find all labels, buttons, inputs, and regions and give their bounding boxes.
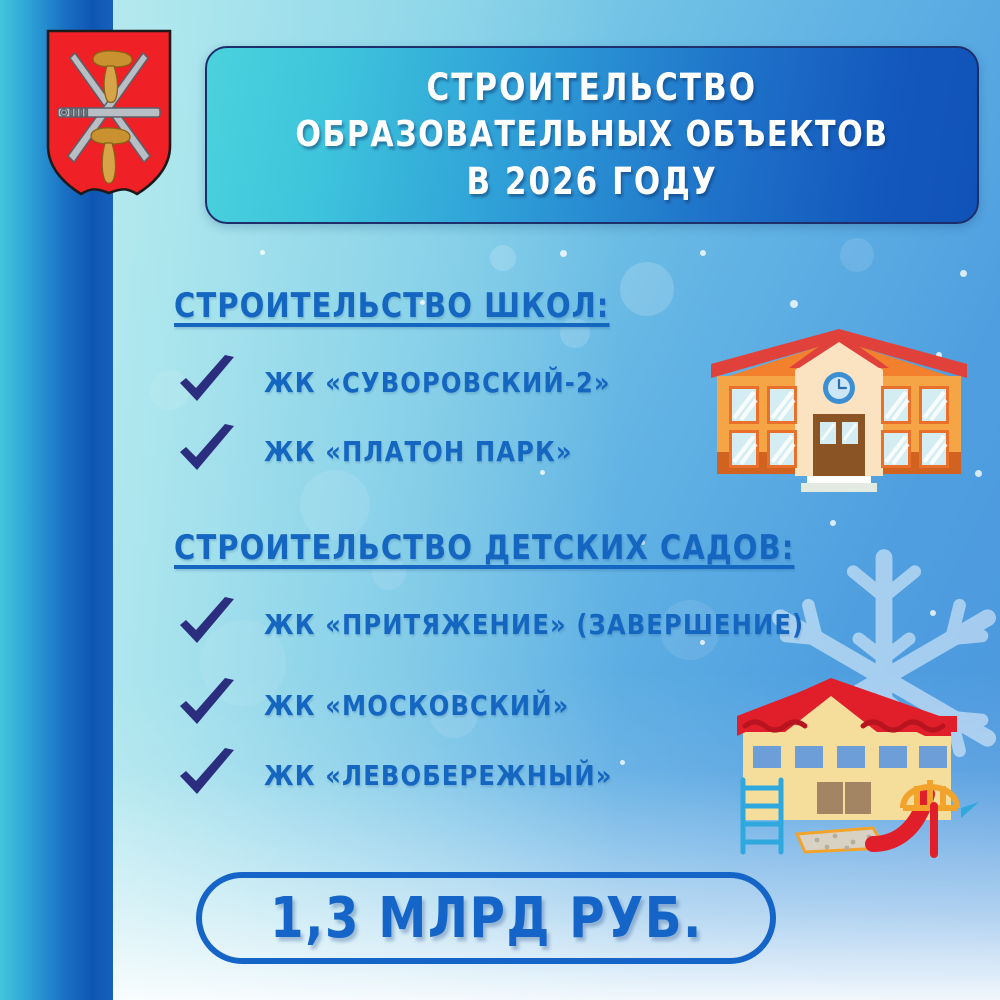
section-heading-schools: СТРОИТЕЛЬСТВО ШКОЛ:	[174, 286, 609, 326]
checkmark-icon	[176, 597, 238, 651]
list-item-label: ЖК «ПЛАТОН ПАРК»	[264, 435, 573, 468]
checkmark-icon	[176, 424, 238, 478]
list-item: ЖК «СУВОРОВСКИЙ-2»	[176, 355, 625, 409]
school-building-icon	[703, 326, 975, 496]
list-item-label: ЖК «МОСКОВСКИЙ»	[264, 689, 569, 722]
list-item-label: ЖК «СУВОРОВСКИЙ-2»	[264, 366, 611, 399]
section-heading-kindergartens: СТРОИТЕЛЬСТВО ДЕТСКИХ САДОВ:	[174, 528, 794, 568]
list-item: ЖК «ЛЕВОБЕРЕЖНЫЙ»	[176, 748, 627, 802]
checkmark-icon	[176, 748, 238, 802]
infographic-poster: СТРОИТЕЛЬСТВО ОБРАЗОВАТЕЛЬНЫХ ОБЪЕКТОВ В…	[0, 0, 1000, 1000]
list-item: ЖК «ПЛАТОН ПАРК»	[176, 424, 586, 478]
kindergarten-building-icon	[713, 676, 985, 858]
list-item-label: ЖК «ЛЕВОБЕРЕЖНЫЙ»	[264, 759, 613, 792]
list-item: ЖК «ПРИТЯЖЕНИЕ» (ЗАВЕРШЕНИЕ)	[176, 597, 827, 651]
list-item-label: ЖК «ПРИТЯЖЕНИЕ» (ЗАВЕРШЕНИЕ)	[264, 608, 804, 641]
list-item: ЖК «МОСКОВСКИЙ»	[176, 678, 582, 732]
checkmark-icon	[176, 678, 238, 732]
total-amount-text: 1,3 МЛРД РУБ.	[270, 886, 703, 951]
total-amount-banner: 1,3 МЛРД РУБ.	[196, 872, 776, 964]
checkmark-icon	[176, 355, 238, 409]
